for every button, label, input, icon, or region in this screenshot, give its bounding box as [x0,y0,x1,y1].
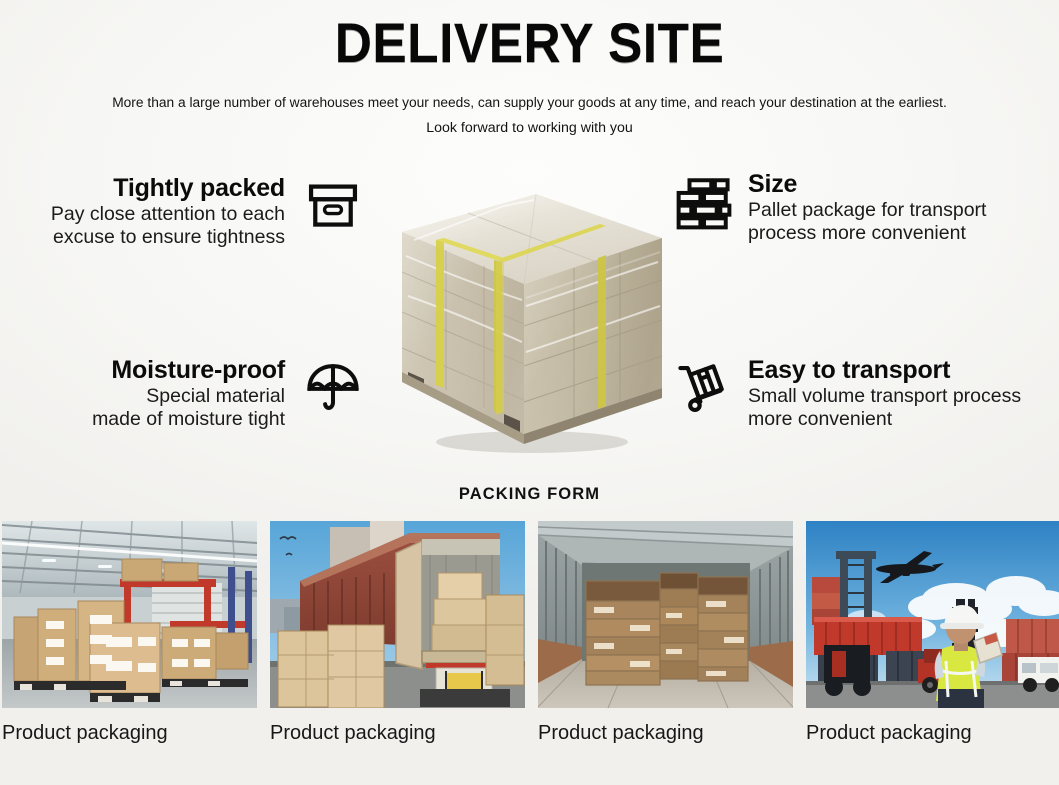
box-icon [301,174,365,238]
brick-wall-icon [672,170,736,234]
feature-text: Moisture-proof Special material made of … [92,356,285,432]
feature-desc-line-2: made of moisture tight [92,408,285,432]
feature-title: Tightly packed [51,174,285,203]
feature-moisture-proof: Moisture-proof Special material made of … [92,356,365,432]
feature-desc-line-1: Small volume transport process [748,385,1021,409]
gallery-item[interactable]: Product packaging [270,521,525,745]
gallery-item-caption: Product packaging [538,721,793,745]
feature-title: Moisture-proof [92,356,285,385]
feature-desc-line-2: excuse to ensure tightness [51,226,285,250]
page-title: DELIVERY SITE [42,14,1016,73]
gallery-item[interactable]: Product packaging [806,521,1059,745]
feature-text: Easy to transport Small volume transport… [748,356,1021,432]
umbrella-icon [301,356,365,420]
gallery-item[interactable]: Product packaging [538,521,793,745]
feature-text: Size Pallet package for transport proces… [748,170,986,246]
page-subtitle-line-1: More than a large number of warehouses m… [16,90,1043,118]
feature-desc-line-2: process more convenient [748,222,986,246]
feature-desc-line-1: Special material [92,385,285,409]
feature-desc-line-1: Pallet package for transport [748,199,986,223]
shrink-wrapped-pallet-photo [384,176,672,456]
container-interior-photo[interactable] [538,521,793,708]
container-loading-photo[interactable] [270,521,525,708]
feature-desc-line-1: Pay close attention to each [51,203,285,227]
warehouse-interior-photo[interactable] [2,521,257,708]
feature-size: Size Pallet package for transport proces… [672,170,986,246]
gallery: Product packaging [2,521,1057,745]
gallery-item[interactable]: Product packaging [2,521,257,745]
feature-tightly-packed: Tightly packed Pay close attention to ea… [51,174,365,250]
page-subtitle-line-2: Look forward to working with you [0,117,1059,140]
feature-easy-to-transport: Easy to transport Small volume transport… [672,356,1021,432]
port-yard-worker-photo[interactable] [806,521,1059,708]
feature-title: Easy to transport [748,356,1021,385]
packing-form-label: PACKING FORM [0,485,1059,504]
hand-truck-icon [672,356,736,420]
delivery-site-page: DELIVERY SITE More than a large number o… [0,0,1059,785]
feature-title: Size [748,170,986,199]
feature-desc-line-2: more convenient [748,408,1021,432]
gallery-item-caption: Product packaging [270,721,525,745]
page-header: DELIVERY SITE More than a large number o… [0,0,1059,140]
feature-text: Tightly packed Pay close attention to ea… [51,174,285,250]
gallery-item-caption: Product packaging [2,721,257,745]
gallery-item-caption: Product packaging [806,721,1059,745]
